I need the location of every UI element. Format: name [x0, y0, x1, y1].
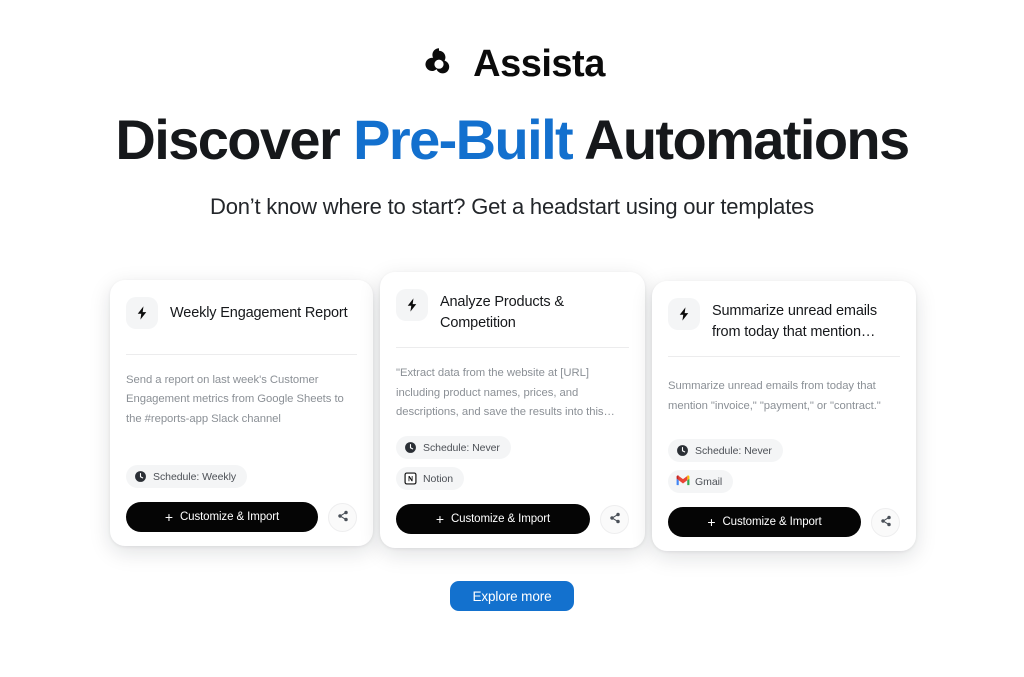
card-title: Summarize unread emails from today that … — [712, 297, 900, 342]
share-button[interactable] — [871, 508, 900, 537]
explore-more-button[interactable]: Explore more — [450, 581, 573, 611]
app-chip-label: Notion — [423, 473, 453, 485]
customize-and-import-label: Customize & Import — [722, 516, 821, 528]
template-card-list: Weekly Engagement Report Send a report o… — [110, 272, 916, 552]
card-header: Weekly Engagement Report — [126, 296, 357, 336]
share-network-icon — [880, 515, 892, 530]
template-card[interactable]: Analyze Products & Competition "Extract … — [380, 272, 645, 548]
card-header: Analyze Products & Competition — [396, 288, 629, 333]
schedule-chip: Schedule: Never — [396, 436, 511, 459]
share-network-icon — [337, 510, 349, 525]
card-description: Summarize unread emails from today that … — [668, 377, 900, 416]
card-chip-group: Schedule: Never Gmail — [668, 439, 900, 501]
template-card[interactable]: Weekly Engagement Report Send a report o… — [110, 280, 373, 546]
card-actions: + Customize & Import — [126, 502, 357, 532]
share-button[interactable] — [600, 505, 629, 534]
assista-trefoil-logo-icon — [419, 44, 459, 84]
headline-text-lead: Discover — [115, 108, 353, 171]
card-actions: + Customize & Import — [668, 507, 900, 537]
brand-lockup: Assista — [0, 44, 1024, 84]
card-actions: + Customize & Import — [396, 504, 629, 534]
customize-and-import-button[interactable]: + Customize & Import — [396, 504, 590, 534]
card-chip-group: Schedule: Never Notion — [396, 436, 629, 498]
lightning-bolt-icon — [396, 289, 428, 321]
card-description: "Extract data from the website at [URL] … — [396, 364, 629, 422]
card-divider — [396, 347, 629, 348]
card-description: Send a report on last week's Customer En… — [126, 371, 357, 429]
plus-icon: + — [707, 515, 715, 529]
app-chip-label: Gmail — [695, 476, 722, 488]
schedule-chip: Schedule: Weekly — [126, 465, 247, 488]
app-chip: Gmail — [668, 470, 733, 493]
lightning-bolt-icon — [126, 297, 158, 329]
card-title: Analyze Products & Competition — [440, 288, 629, 333]
template-card[interactable]: Summarize unread emails from today that … — [652, 281, 916, 551]
plus-icon: + — [436, 512, 444, 526]
headline-text-accent: Pre-Built — [353, 108, 572, 171]
card-divider — [668, 356, 900, 357]
schedule-chip-label: Schedule: Never — [695, 445, 772, 457]
share-button[interactable] — [328, 503, 357, 532]
page-subtitle: Don’t know where to start? Get a headsta… — [0, 194, 1024, 220]
notion-icon — [404, 472, 417, 485]
plus-icon: + — [165, 510, 173, 524]
schedule-chip-label: Schedule: Weekly — [153, 471, 236, 483]
card-title: Weekly Engagement Report — [170, 296, 347, 324]
card-chip-group: Schedule: Weekly — [126, 465, 357, 496]
share-network-icon — [609, 512, 621, 527]
explore-more-row: Explore more — [0, 581, 1024, 611]
app-chip: Notion — [396, 467, 464, 490]
schedule-chip: Schedule: Never — [668, 439, 783, 462]
card-header: Summarize unread emails from today that … — [668, 297, 900, 342]
customize-and-import-label: Customize & Import — [451, 513, 550, 525]
templates-landing-page: Assista Discover Pre-Built Automations D… — [0, 0, 1024, 677]
customize-and-import-label: Customize & Import — [180, 511, 279, 523]
card-divider — [126, 354, 357, 355]
clock-icon — [134, 470, 147, 483]
schedule-chip-label: Schedule: Never — [423, 442, 500, 454]
gmail-icon — [676, 475, 689, 488]
clock-icon — [676, 444, 689, 457]
brand-name: Assista — [473, 45, 605, 83]
customize-and-import-button[interactable]: + Customize & Import — [668, 507, 861, 537]
clock-icon — [404, 441, 417, 454]
page-title: Discover Pre-Built Automations — [0, 108, 1024, 172]
customize-and-import-button[interactable]: + Customize & Import — [126, 502, 318, 532]
lightning-bolt-icon — [668, 298, 700, 330]
headline-text-tail: Automations — [572, 108, 909, 171]
